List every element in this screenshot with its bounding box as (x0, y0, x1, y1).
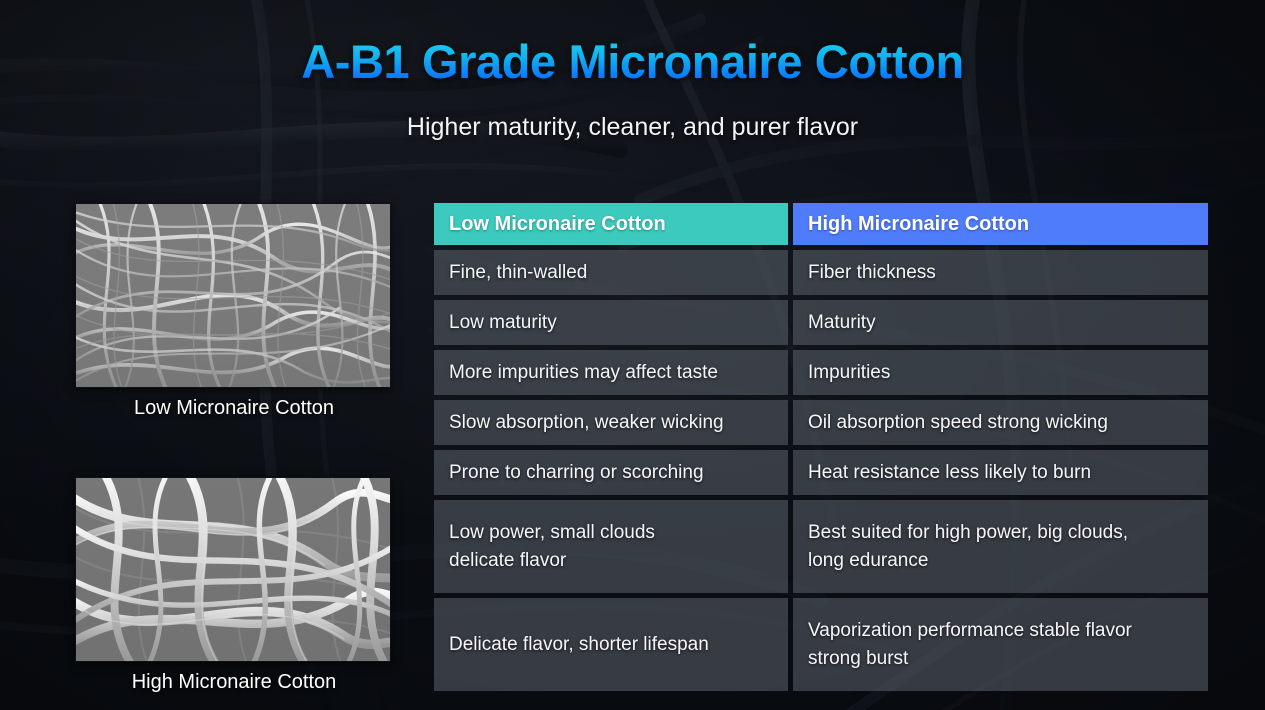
cell-text: Maturity (808, 309, 876, 337)
table-row: More impurities may affect taste (434, 350, 788, 395)
cell-text: Impurities (808, 359, 890, 387)
page-subtitle: Higher maturity, cleaner, and purer flav… (0, 113, 1265, 142)
high-header-label: High Micronaire Cotton (808, 213, 1029, 236)
page-title: A-B1 Grade Micronaire Cotton (0, 36, 1265, 89)
comparison-table: Low Micronaire Cotton Fine, thin-walled … (434, 203, 1208, 691)
low-micronaire-media-block: Low Micronaire Cotton (75, 203, 393, 420)
low-micronaire-caption: Low Micronaire Cotton (75, 397, 393, 420)
cell-text-line1: Low power, small clouds (449, 519, 655, 547)
high-micronaire-cotton-sem-image (75, 477, 391, 662)
cell-text-line1: Vaporization performance stable flavor (808, 617, 1132, 645)
cell-text-line2: long edurance (808, 547, 1128, 575)
table-row: Delicate flavor, shorter lifespan (434, 598, 788, 691)
table-row: Prone to charring or scorching (434, 450, 788, 495)
table-row: Vaporization performance stable flavor s… (793, 598, 1208, 691)
slide-root: A-B1 Grade Micronaire Cotton Higher matu… (0, 0, 1265, 710)
table-row: Fiber thickness (793, 250, 1208, 295)
fiber-image-column: Low Micronaire Cotton (75, 203, 393, 694)
low-micronaire-column: Low Micronaire Cotton Fine, thin-walled … (434, 203, 788, 691)
cell-text: Oil absorption speed strong wicking (808, 409, 1108, 437)
table-row: Impurities (793, 350, 1208, 395)
high-micronaire-media-block: High Micronaire Cotton (75, 477, 393, 694)
table-row: Slow absorption, weaker wicking (434, 400, 788, 445)
high-micronaire-caption: High Micronaire Cotton (75, 671, 393, 694)
table-row: Heat resistance less likely to burn (793, 450, 1208, 495)
cell-text: Fiber thickness (808, 259, 936, 287)
table-row: Low maturity (434, 300, 788, 345)
table-row: Maturity (793, 300, 1208, 345)
table-row: Fine, thin-walled (434, 250, 788, 295)
low-header-label: Low Micronaire Cotton (449, 213, 666, 236)
table-row: Low power, small clouds delicate flavor (434, 500, 788, 593)
cell-text: Fine, thin-walled (449, 259, 587, 287)
cell-text: More impurities may affect taste (449, 359, 718, 387)
table-row: Oil absorption speed strong wicking (793, 400, 1208, 445)
low-micronaire-cotton-sem-image (75, 203, 391, 388)
table-row: Best suited for high power, big clouds, … (793, 500, 1208, 593)
cell-text: Prone to charring or scorching (449, 459, 704, 487)
cell-text: Slow absorption, weaker wicking (449, 409, 724, 437)
high-micronaire-column-header: High Micronaire Cotton (793, 203, 1208, 245)
cell-text-line2: delicate flavor (449, 547, 655, 575)
high-micronaire-column: High Micronaire Cotton Fiber thickness M… (793, 203, 1208, 691)
cell-text: Low maturity (449, 309, 557, 337)
cell-text-line1: Best suited for high power, big clouds, (808, 519, 1128, 547)
cell-text: Heat resistance less likely to burn (808, 459, 1091, 487)
low-micronaire-column-header: Low Micronaire Cotton (434, 203, 788, 245)
cell-text-line2: strong burst (808, 645, 1132, 673)
cell-text-line1: Delicate flavor, shorter lifespan (449, 631, 709, 659)
